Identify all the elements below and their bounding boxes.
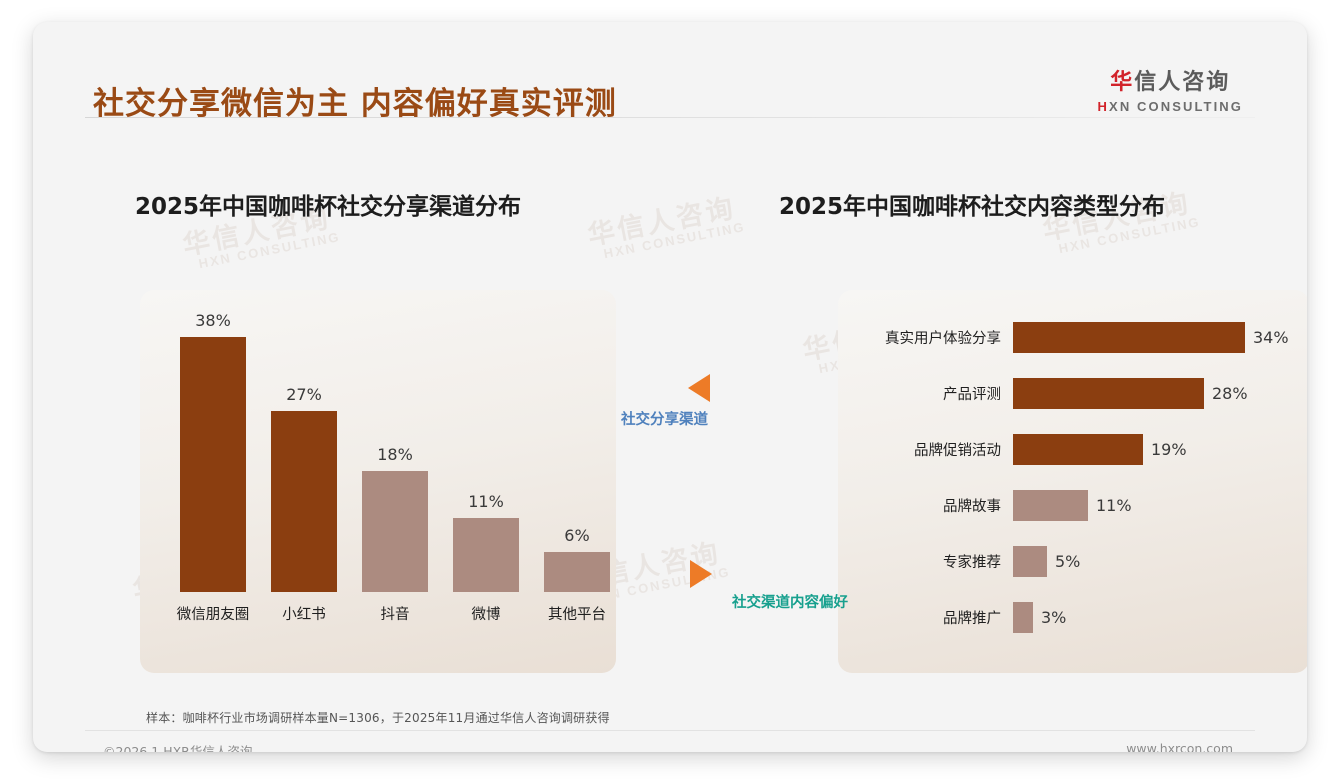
bar-category-label: 品牌推广 [838,607,1013,628]
bar-value-label: 28% [1212,384,1248,403]
bar-value-label: 3% [1041,608,1066,627]
logo-english-rest: XN CONSULTING [1109,99,1243,114]
watermark-cn: 华信人咨询 [585,192,744,250]
bar [362,471,428,592]
bar-row: 品牌故事11% [838,488,1307,522]
bar-row: 产品评测28% [838,376,1307,410]
bar-value-label: 11% [468,492,504,511]
bar [544,552,610,592]
bar-column: 6% [544,526,610,592]
footer-divider [85,730,1255,731]
bar-row: 品牌推广3% [838,600,1307,634]
bar-column: 18% [362,445,428,592]
watermark-en: HXN CONSULTING [1058,215,1202,256]
logo-chinese-rest: 信人咨询 [1134,69,1230,94]
bar [1013,490,1088,521]
header-divider [85,117,1255,118]
bar-value-label: 5% [1055,552,1080,571]
bar-category-label: 其他平台 [522,603,632,624]
social-share-channel-bar-chart: 38%微信朋友圈27%小红书18%抖音11%微博6%其他平台 [140,307,616,632]
annotation-social-share-channel: 社交分享渠道 [621,408,708,429]
bar [1013,378,1204,409]
arrow-right-icon [690,560,712,588]
left-chart-title: 2025年中国咖啡杯社交分享渠道分布 [135,187,521,221]
bar-category-label: 产品评测 [838,383,1013,404]
bar-column: 11% [453,492,519,592]
bar-category-label: 专家推荐 [838,551,1013,572]
watermark-en: HXN CONSULTING [603,220,747,261]
bar [271,411,337,592]
bar [1013,434,1143,465]
social-content-type-bar-chart: 真实用户体验分享34%产品评测28%品牌促销活动19%品牌故事11%专家推荐5%… [838,304,1307,664]
bar-value-label: 18% [377,445,413,464]
bar-value-label: 27% [286,385,322,404]
bar-value-label: 19% [1151,440,1187,459]
slide: 华信人咨询 HXN CONSULTING 华信人咨询 HXN CONSULTIN… [33,22,1307,752]
bar-value-label: 34% [1253,328,1289,347]
bar-row: 专家推荐5% [838,544,1307,578]
annotation-content-preference: 社交渠道内容偏好 [732,591,848,612]
bar [453,518,519,592]
bar-category-label: 真实用户体验分享 [838,327,1013,348]
bar [180,337,246,592]
website-url: www.hxrcon.com [1126,741,1233,752]
bar-category-label: 品牌故事 [838,495,1013,516]
bar-column: 38% [180,311,246,592]
source-note: 样本：咖啡杯行业市场调研样本量N=1306，于2025年11月通过华信人咨询调研… [146,709,610,726]
arrow-left-icon [688,374,710,402]
bar [1013,602,1033,633]
logo-english: HXN CONSULTING [1098,99,1243,114]
logo-chinese: 华信人咨询 [1098,64,1243,96]
bar [1013,546,1047,577]
brand-logo: 华信人咨询 HXN CONSULTING [1098,64,1243,114]
bar-column: 27% [271,385,337,592]
bar-row: 品牌促销活动19% [838,432,1307,466]
bar [1013,322,1245,353]
copyright-text: ©2026.1 HXR华信人咨询 [103,741,252,752]
logo-chinese-accent: 华 [1110,69,1134,94]
bar-value-label: 6% [564,526,589,545]
bar-value-label: 38% [195,311,231,330]
logo-english-accent: H [1098,99,1110,114]
right-chart-title: 2025年中国咖啡杯社交内容类型分布 [779,187,1165,221]
bar-category-label: 品牌促销活动 [838,439,1013,460]
bar-row: 真实用户体验分享34% [838,320,1307,354]
watermark-en: HXN CONSULTING [198,230,342,271]
watermark: 华信人咨询 HXN CONSULTING [585,192,746,263]
bar-value-label: 11% [1096,496,1132,515]
